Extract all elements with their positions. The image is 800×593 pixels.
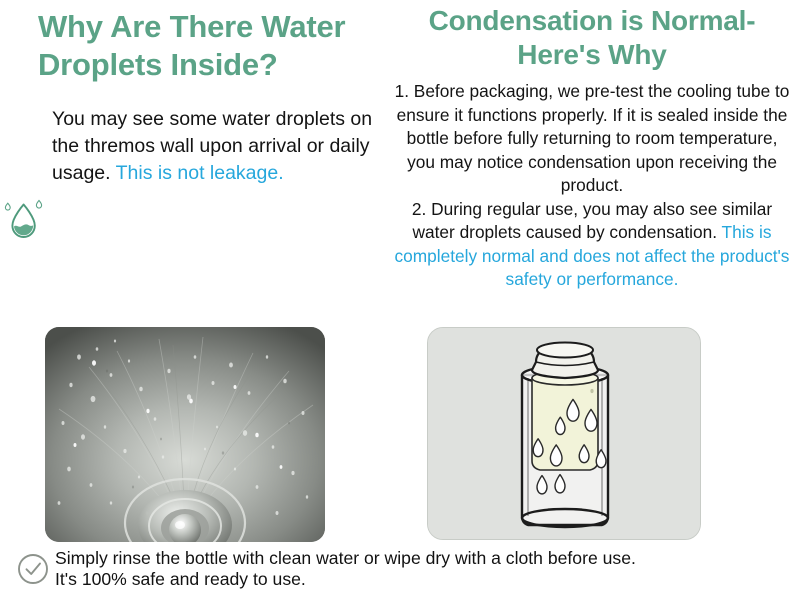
thermos-condensation-photo	[45, 327, 325, 542]
cooling-tube-illustration	[427, 327, 701, 540]
left-heading: Why Are There Water Droplets Inside?	[14, 8, 386, 84]
left-body-accent: This is not leakage.	[116, 162, 284, 184]
footer-line-1: Simply rinse the bottle with clean water…	[55, 548, 797, 569]
right-column: Condensation is Normal-Here's Why 1. Bef…	[392, 4, 792, 292]
footer-text-block: Simply rinse the bottle with clean water…	[55, 548, 797, 590]
left-column: Why Are There Water Droplets Inside? You…	[14, 8, 386, 187]
water-droplet-icon	[4, 197, 44, 243]
infographic-page: Why Are There Water Droplets Inside? You…	[0, 0, 800, 593]
right-body-item-2-plain: 2. During regular use, you may also see …	[412, 199, 772, 243]
footer-line-2: It's 100% safe and ready to use.	[55, 569, 797, 590]
footer-note: Simply rinse the bottle with clean water…	[0, 548, 800, 593]
right-body-item-1: 1. Before packaging, we pre-test the coo…	[392, 72, 792, 198]
right-heading: Condensation is Normal-Here's Why	[392, 4, 792, 72]
check-circle-icon	[16, 552, 50, 586]
left-body-text: You may see some water droplets on the t…	[14, 84, 386, 187]
right-body-item-2: 2. During regular use, you may also see …	[392, 198, 792, 292]
